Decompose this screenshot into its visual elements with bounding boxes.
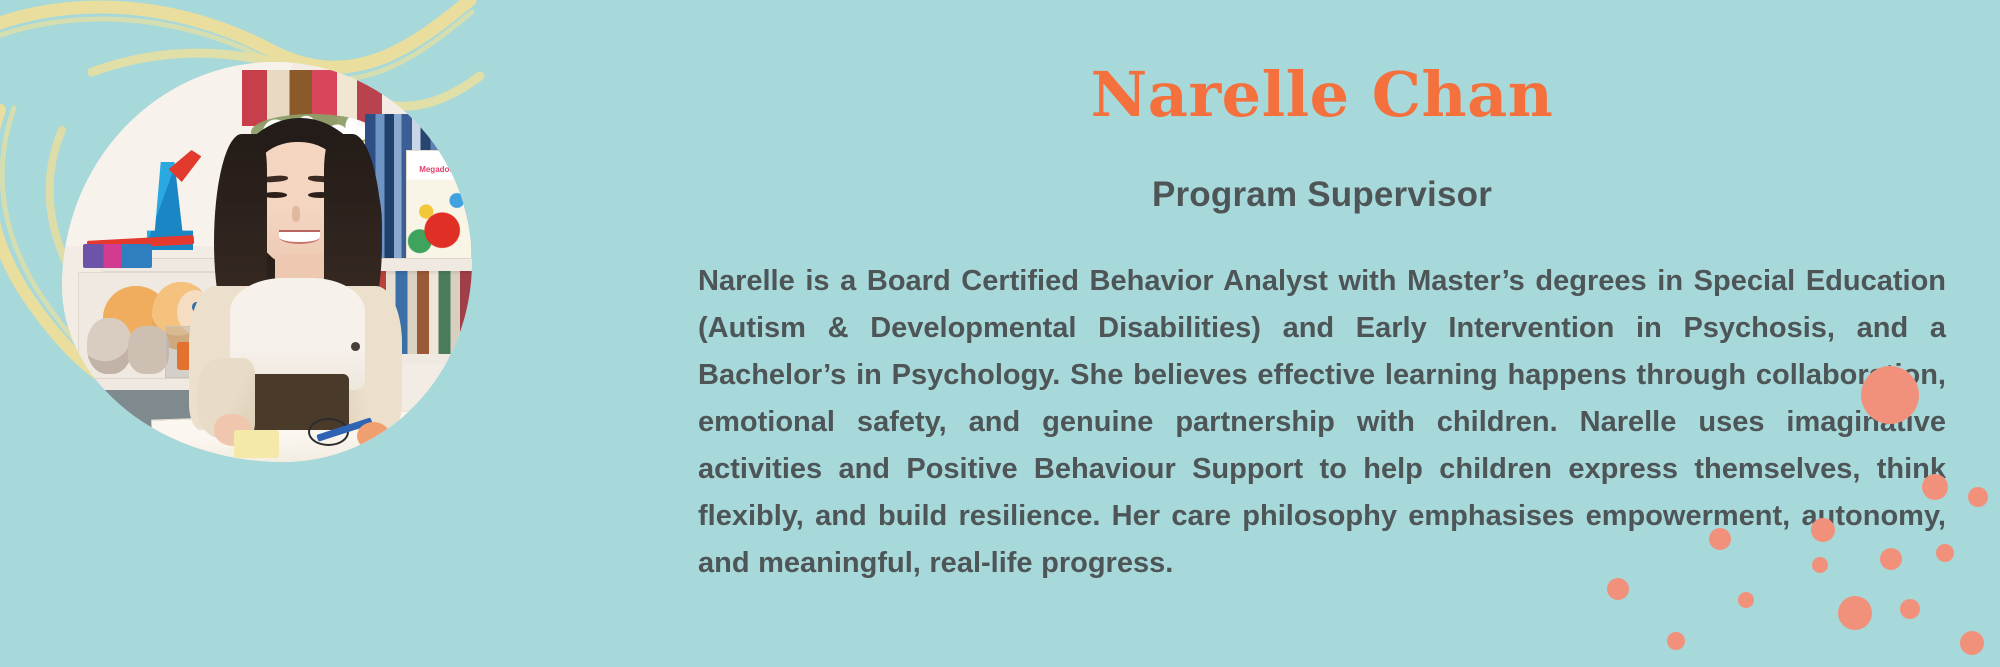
profile-text-column: Narelle Chan Program Supervisor Narelle … bbox=[698, 0, 1946, 667]
role-subtitle: Program Supervisor bbox=[698, 175, 1946, 215]
biography-paragraph: Narelle is a Board Certified Behavior An… bbox=[698, 258, 1946, 587]
confetti-dot bbox=[1968, 487, 1988, 507]
photo-book-title: Megadodo bbox=[406, 166, 472, 190]
confetti-dot bbox=[1960, 631, 1984, 655]
profile-photo-blob: Megadodo bbox=[62, 62, 472, 462]
profile-banner: Megadodo bbox=[0, 0, 2000, 667]
page-title: Narelle Chan bbox=[698, 62, 1946, 127]
profile-photo: Megadodo bbox=[62, 62, 472, 462]
